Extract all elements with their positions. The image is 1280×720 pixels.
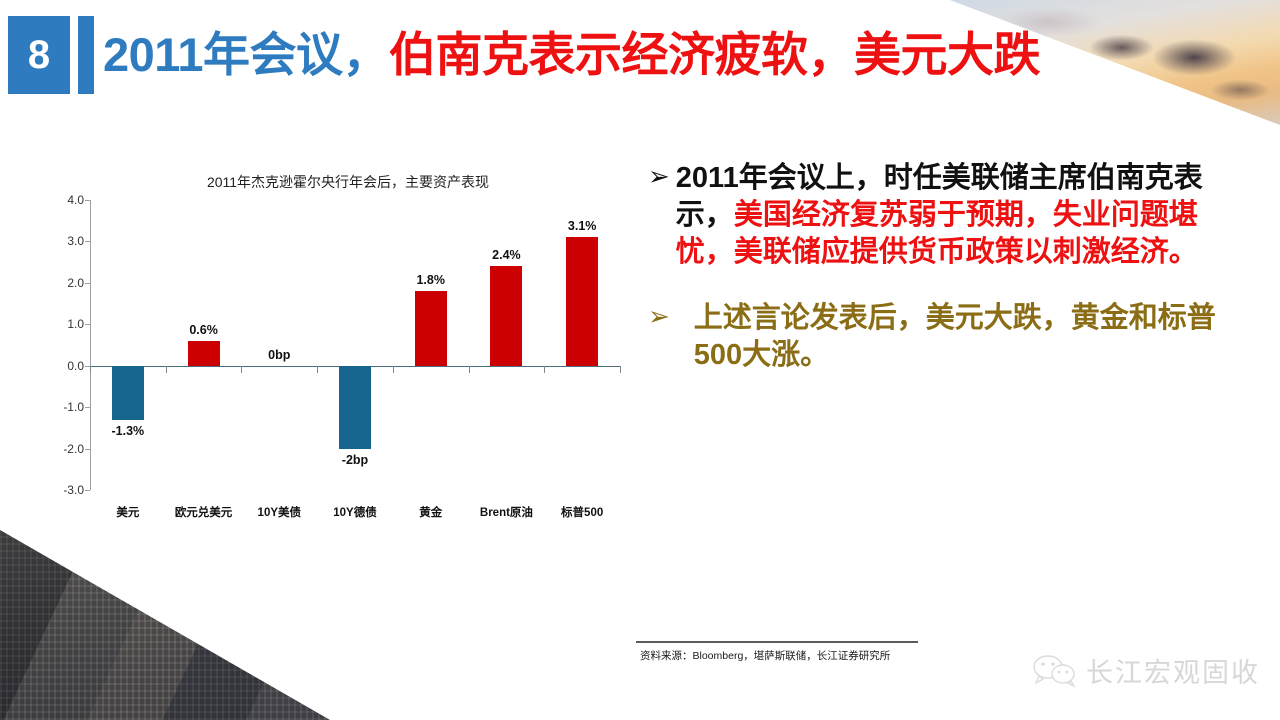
y-axis-tick-label: -3.0 (48, 483, 84, 497)
note-bullet-1: ➢ 2011年会议上，时任美联储主席伯南克表示，美国经济复苏弱于预期，失业问题堪… (648, 160, 1228, 270)
bar-value-label: -1.3% (112, 424, 145, 438)
header-accent-bar (78, 16, 94, 94)
note-bullet-1-text: 2011年会议上，时任美联储主席伯南克表示，美国经济复苏弱于预期，失业问题堪忧，… (676, 160, 1228, 270)
bar-value-label: -2bp (342, 453, 368, 467)
cityscape-photo-decoration (0, 530, 330, 720)
x-axis-tick-mark (620, 366, 621, 373)
x-axis-label: Brent原油 (480, 504, 533, 520)
y-axis-tick-label: -1.0 (48, 400, 84, 414)
chart-plot-area: 4.03.02.01.00.0-1.0-2.0-3.0 -1.3%0.6%0bp… (90, 200, 620, 490)
x-axis-label: 欧元兑美元 (175, 504, 233, 520)
source-divider (636, 641, 918, 643)
x-axis-tick-mark (241, 366, 242, 373)
note-bullet-2: ➢ 上述言论发表后，美元大跌，黄金和标普500大涨。 (648, 300, 1228, 374)
slide-canvas: 8 2011年会议，伯南克表示经济疲软，美元大跌 2011年杰克逊霍尔央行年会后… (0, 0, 1280, 720)
x-axis-tick-mark (317, 366, 318, 373)
y-axis-tick-label: 4.0 (48, 193, 84, 207)
y-axis-tick-mark (85, 407, 90, 408)
bullet-arrow-icon: ➢ (648, 160, 670, 193)
bar-黄金 (415, 291, 447, 366)
bullet-arrow-icon-2: ➢ (648, 300, 670, 333)
page-title-blue-part: 2011年会议， (103, 28, 389, 81)
x-axis-label: 10Y德债 (333, 504, 376, 520)
y-axis-tick-mark (85, 324, 90, 325)
bar-value-label: 0bp (268, 348, 290, 362)
watermark-label: 长江宏观固收 (1086, 651, 1260, 690)
bar-value-label: 3.1% (568, 219, 597, 233)
x-axis-label: 美元 (116, 504, 139, 520)
bar-美元 (112, 366, 144, 420)
page-number-badge: 8 (8, 16, 70, 94)
page-title: 2011年会议，伯南克表示经济疲软，美元大跌 (103, 22, 1083, 88)
x-axis-tick-mark (393, 366, 394, 373)
note-1-red: 美国经济复苏弱于预期，失业问题堪忧，美联储应提供货币政策以刺激经济。 (676, 199, 1198, 268)
note-bullet-2-text: 上述言论发表后，美元大跌，黄金和标普500大涨。 (676, 300, 1228, 374)
asset-performance-chart: 2011年杰克逊霍尔央行年会后，主要资产表现 4.03.02.01.00.0-1… (28, 172, 618, 522)
y-axis-tick-mark (85, 200, 90, 201)
y-axis-tick-mark (85, 241, 90, 242)
wechat-icon (1032, 654, 1078, 688)
y-axis-tick-label: -2.0 (48, 442, 84, 456)
x-axis-tick-mark (90, 366, 91, 373)
y-axis-tick-mark (85, 449, 90, 450)
x-axis-tick-mark (469, 366, 470, 373)
bar-10Y德债 (339, 366, 371, 449)
y-axis-tick-mark (85, 490, 90, 491)
x-axis-label: 黄金 (419, 504, 442, 520)
x-axis-label: 标普500 (561, 504, 603, 520)
y-axis-tick-label: 1.0 (48, 317, 84, 331)
x-axis-tick-mark (166, 366, 167, 373)
chart-title: 2011年杰克逊霍尔央行年会后，主要资产表现 (138, 172, 558, 192)
bar-value-label: 1.8% (416, 273, 445, 287)
bar-标普500 (566, 237, 598, 365)
y-axis-tick-mark (85, 283, 90, 284)
bar-欧元兑美元 (188, 341, 220, 366)
bar-value-label: 0.6% (189, 323, 218, 337)
x-axis-tick-mark (544, 366, 545, 373)
watermark: 长江宏观固收 (1032, 651, 1260, 690)
notes-panel: ➢ 2011年会议上，时任美联储主席伯南克表示，美国经济复苏弱于预期，失业问题堪… (648, 160, 1228, 404)
bar-Brent原油 (490, 266, 522, 365)
y-axis-tick-label: 2.0 (48, 276, 84, 290)
y-axis-tick-label: 0.0 (48, 359, 84, 373)
page-number-label: 8 (8, 16, 70, 94)
y-axis-tick-label: 3.0 (48, 234, 84, 248)
x-axis-label: 10Y美债 (258, 504, 301, 520)
source-note: 资料来源：Bloomberg，堪萨斯联储，长江证券研究所 (640, 648, 890, 663)
bar-value-label: 2.4% (492, 248, 521, 262)
page-title-red-part: 伯南克表示经济疲软，美元大跌 (389, 28, 1040, 81)
